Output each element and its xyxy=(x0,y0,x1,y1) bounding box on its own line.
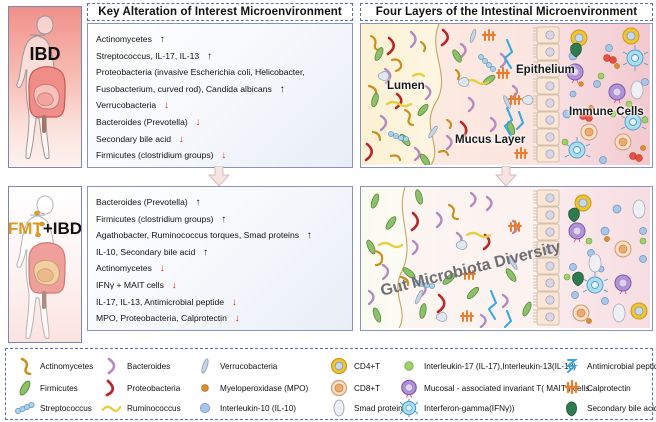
right-panel-header: Four Layers of the Intestinal Microenvir… xyxy=(360,3,653,21)
alteration-text: IFNγ + MAIT cells xyxy=(96,280,164,290)
cd8t-icon xyxy=(328,379,350,397)
legend-item-label: CD8+T xyxy=(354,384,380,393)
legend-item: CD4+T xyxy=(328,357,380,375)
fmt-label-accent: FMT xyxy=(8,219,43,238)
streptococcus-icon xyxy=(14,399,36,417)
alteration-item: IFNγ + MAIT cells ↓ xyxy=(96,277,352,294)
left-panel-header-text: Key Alteration of Interest Microenvironm… xyxy=(98,6,342,18)
bacteroides-icon xyxy=(101,357,123,375)
ruminococcus-icon xyxy=(101,400,123,416)
lumen-label: Lumen xyxy=(387,80,425,92)
fmt-subject-panel: FMT+IBD xyxy=(8,186,82,343)
legend-item: Actinomycetes xyxy=(14,357,93,375)
increase-arrow-icon: ↑ xyxy=(218,214,226,225)
decrease-arrow-icon: ↓ xyxy=(229,297,237,308)
alteration-text: Proteobacteria (invasive Escherichia col… xyxy=(96,67,305,77)
alteration-text: Bacteroides (Prevotella) xyxy=(96,197,188,207)
legend-item-label: Myeloperoxidase (MPO) xyxy=(220,384,308,393)
legend-item-label: Bacteroides xyxy=(127,362,170,371)
alteration-item: Fusobacterium, curved rod), Candida albi… xyxy=(96,81,352,98)
alteration-item: Secondary bile acid ↓ xyxy=(96,131,352,148)
alteration-text: Verrucobacteria xyxy=(96,100,156,110)
right-panel-header-text: Four Layers of the Intestinal Microenvir… xyxy=(376,6,637,18)
decrease-arrow-icon: ↓ xyxy=(176,134,184,145)
alteration-text: Fusobacterium, curved rod), Candida albi… xyxy=(96,84,272,94)
alteration-item: Bacteroides (Prevotella) ↓ xyxy=(96,114,352,131)
legend-item-label: Verrucobacteria xyxy=(220,362,277,371)
decrease-arrow-icon: ↓ xyxy=(193,117,201,128)
alteration-text: Actinomycetes xyxy=(96,34,152,44)
alteration-text: Bacteroides (Prevotella) xyxy=(96,117,188,127)
left-panel-header: Key Alteration of Interest Microenvironm… xyxy=(87,3,353,21)
legend-item-label: CD4+T xyxy=(354,362,380,371)
alteration-item: Bacteroides (Prevotella) ↑ xyxy=(96,194,352,211)
cd4t-icon xyxy=(328,357,350,375)
actinomycetes-icon xyxy=(14,357,36,375)
left-transition-arrow-icon xyxy=(207,166,231,186)
alteration-item: Streptococcus, IL-17, IL-13 ↑ xyxy=(96,48,352,65)
intestinal-layers-illustration-bottom: Gut Microbiota Diversity xyxy=(360,186,653,331)
mucus-layer-label: Mucus Layer xyxy=(455,134,525,146)
alteration-item: Actinomycetes ↑ xyxy=(96,31,352,48)
increase-arrow-icon: ↑ xyxy=(204,51,212,62)
legend-item: Ruminococcus xyxy=(101,399,181,417)
alteration-text: Firmicutes (clostridium groups) xyxy=(96,214,213,224)
legend-panel: ActinomycetesFirmicutesStreptococcusBact… xyxy=(5,348,653,420)
legend-item: Secondary bile acid xyxy=(561,399,656,417)
alteration-item: MPO, Proteobacteria, Calprotectin ↓ xyxy=(96,310,352,327)
human-body-fmt-icon xyxy=(9,187,81,342)
secondary-bile-acid-icon xyxy=(561,399,583,417)
intestinal-layers-illustration-top: Lumen Mucus Layer Epithelium Immune Cell… xyxy=(360,23,653,168)
il10-icon xyxy=(194,400,216,416)
fmt-alterations-list: Bacteroides (Prevotella) ↑Firmicutes (cl… xyxy=(88,187,352,327)
antimicrobial-peptide-icon xyxy=(561,358,583,374)
legend-item: Proteobacteria xyxy=(101,379,180,397)
alteration-text: Streptococcus, IL-17, IL-13 xyxy=(96,51,199,61)
legend-item-label: Secondary bile acid xyxy=(587,404,656,413)
alteration-text: Actinomycetes xyxy=(96,263,152,273)
alteration-item: IL-17, IL-13, Antimicrobial peptide ↓ xyxy=(96,294,352,311)
mpo-icon xyxy=(194,380,216,396)
legend-item-label: Interleukin-10 (IL-10) xyxy=(220,404,296,413)
fmt-label-rest: +IBD xyxy=(43,219,82,238)
ibd-subject-panel: IBD xyxy=(8,6,82,168)
ibd-label: IBD xyxy=(30,45,61,63)
alteration-text: IL-10, Secondary bile acid xyxy=(96,247,195,257)
human-body-ibd-icon xyxy=(9,7,81,167)
mait-icon xyxy=(398,379,420,398)
legend-item-label: Calprotectin xyxy=(587,384,631,393)
legend-item: Antimicrobial peptide xyxy=(561,357,656,375)
alteration-text: Secondary bile acid xyxy=(96,134,171,144)
increase-arrow-icon: ↑ xyxy=(157,34,165,45)
decrease-arrow-icon: ↓ xyxy=(232,313,240,324)
verrucobacteria-icon xyxy=(194,357,216,375)
fmt-label: FMT+IBD xyxy=(8,220,82,237)
legend-item: Verrucobacteria xyxy=(194,357,277,375)
legend-item: Smad proteins xyxy=(328,399,407,417)
alteration-item: IL-10, Secondary bile acid ↑ xyxy=(96,244,352,261)
alteration-item: Firmicutes (clostridium groups) ↑ xyxy=(96,211,352,228)
ifng-icon xyxy=(398,399,420,417)
right-transition-arrow-icon xyxy=(494,166,518,186)
legend-item: Calprotectin xyxy=(561,379,631,397)
alteration-text: Firmicutes (clostridium groups) xyxy=(96,150,213,160)
legend-item: Interferon-gamma(IFNγ)) xyxy=(398,399,515,417)
legend-item: Interleukin-17 (IL-17),Interleukin-13(IL… xyxy=(398,357,576,375)
alteration-text: Agathobacter, Ruminococcus torques, Smad… xyxy=(96,230,299,240)
legend-item: Myeloperoxidase (MPO) xyxy=(194,379,308,397)
legend-item: Interleukin-10 (IL-10) xyxy=(194,399,296,417)
alteration-item: Verrucobacteria ↓ xyxy=(96,97,352,114)
legend-item-label: Interferon-gamma(IFNγ)) xyxy=(424,404,515,413)
legend-item-label: Streptococcus xyxy=(40,404,92,413)
legend-item-label: Actinomycetes xyxy=(40,362,93,371)
proteobacteria-icon xyxy=(101,379,123,397)
figure-root: IBD FMT+IBD Key Alteration of Interest M… xyxy=(0,0,656,422)
legend-item: Bacteroides xyxy=(101,357,170,375)
legend-item-label: Proteobacteria xyxy=(127,384,180,393)
increase-arrow-icon: ↑ xyxy=(304,230,312,241)
legend-item-label: Ruminococcus xyxy=(127,404,181,413)
decrease-arrow-icon: ↓ xyxy=(161,100,169,111)
legend-item: Firmicutes xyxy=(14,379,78,397)
legend-item: CD8+T xyxy=(328,379,380,397)
decrease-arrow-icon: ↓ xyxy=(169,280,177,291)
alteration-item: Agathobacter, Ruminococcus torques, Smad… xyxy=(96,227,352,244)
decrease-arrow-icon: ↓ xyxy=(218,150,226,161)
increase-arrow-icon: ↑ xyxy=(193,197,201,208)
epithelium-label: Epithelium xyxy=(516,64,575,76)
legend-item-label: Antimicrobial peptide xyxy=(587,362,656,371)
alteration-text: IL-17, IL-13, Antimicrobial peptide xyxy=(96,297,224,307)
smad-icon xyxy=(328,399,350,417)
legend-item-label: Interleukin-17 (IL-17),Interleukin-13(IL… xyxy=(424,362,576,371)
il17-il13-icon xyxy=(398,358,420,374)
ibd-alterations-list: Actinomycetes ↑Streptococcus, IL-17, IL-… xyxy=(88,24,352,164)
alteration-item: Actinomycetes ↓ xyxy=(96,260,352,277)
legend-item: Streptococcus xyxy=(14,399,92,417)
legend-item-label: Firmicutes xyxy=(40,384,78,393)
alteration-text: MPO, Proteobacteria, Calprotectin xyxy=(96,313,227,323)
increase-arrow-icon: ↑ xyxy=(277,84,285,95)
immune-cells-label: Immune Cells xyxy=(569,106,644,118)
alteration-item: Proteobacteria (invasive Escherichia col… xyxy=(96,64,352,81)
ibd-alterations-box: Actinomycetes ↑Streptococcus, IL-17, IL-… xyxy=(87,23,353,168)
calprotectin-icon xyxy=(561,380,583,396)
decrease-arrow-icon: ↓ xyxy=(157,263,165,274)
fmt-alterations-box: Bacteroides (Prevotella) ↑Firmicutes (cl… xyxy=(87,186,353,331)
alteration-item: Firmicutes (clostridium groups) ↓ xyxy=(96,147,352,164)
increase-arrow-icon: ↑ xyxy=(200,247,208,258)
firmicutes-icon xyxy=(14,379,36,397)
